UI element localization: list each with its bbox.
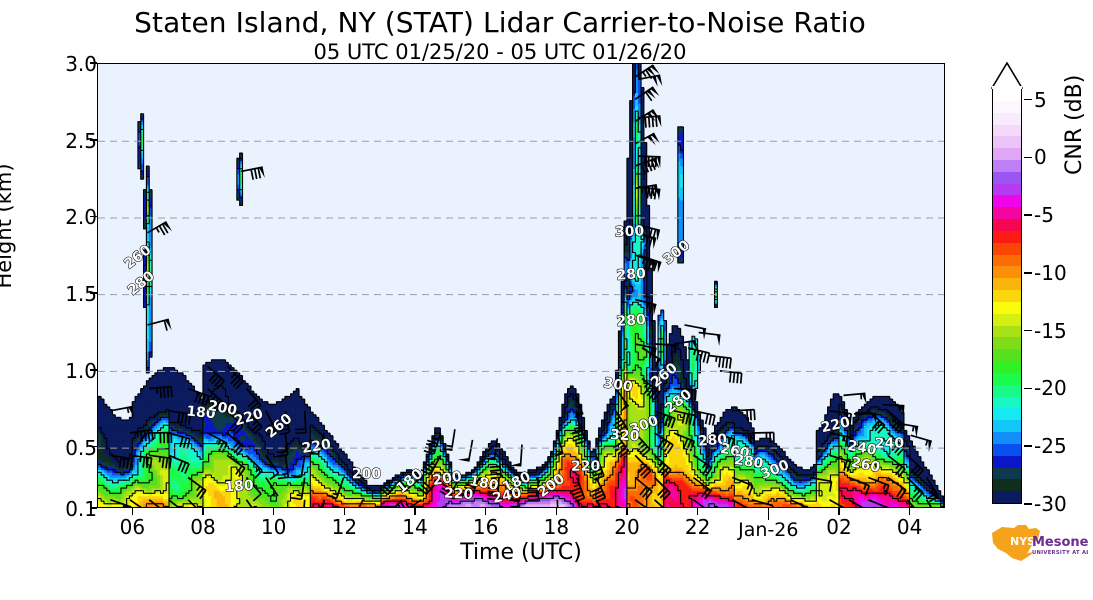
colorbar-band	[993, 443, 1021, 455]
colorbar-band	[993, 136, 1021, 148]
colorbar-band	[993, 337, 1021, 349]
y-tick-label: 1.0	[49, 359, 97, 383]
logo-graphic: NYS Mesonet UNIVERSITY AT ALBANY	[988, 519, 1088, 567]
x-tick-label: 16	[446, 515, 526, 539]
y-tick-label: 1.5	[49, 282, 97, 306]
colorbar-tick-label: -5	[1034, 203, 1054, 227]
colorbar-band	[993, 219, 1021, 231]
colorbar-tick-mark	[1024, 214, 1032, 216]
colorbar-band	[993, 325, 1021, 337]
x-tick-mark	[556, 508, 558, 515]
colorbar-band	[993, 112, 1021, 124]
y-tick-mark	[90, 446, 97, 448]
y-tick-label: 2.0	[49, 205, 97, 229]
colorbar-band	[993, 396, 1021, 408]
x-tick-mark	[626, 508, 628, 515]
y-tick-label: 3.0	[49, 52, 97, 76]
colorbar-tick-mark	[1024, 445, 1032, 447]
chart-plot-area[interactable]: 1802002202601802001802001801802002202402…	[97, 63, 945, 508]
colorbar-band	[993, 455, 1021, 467]
colorbar-band	[993, 171, 1021, 183]
colorbar-band	[993, 100, 1021, 112]
x-tick-mark	[414, 508, 416, 515]
colorbar-band	[993, 159, 1021, 171]
colorbar-tick-label: 5	[1034, 88, 1047, 112]
colorbar-tick-mark	[1024, 503, 1032, 505]
y-tick-mark	[90, 292, 97, 294]
chart-gridlines	[98, 64, 944, 507]
colorbar-tick-mark	[1024, 99, 1032, 101]
colorbar-tick-mark	[1024, 157, 1032, 159]
x-axis-label: Time (UTC)	[97, 540, 945, 565]
x-tick-label: Jan-26	[728, 519, 808, 541]
colorbar-band	[993, 408, 1021, 420]
x-tick-mark	[344, 508, 346, 515]
colorbar-band	[993, 207, 1021, 219]
page-title: Staten Island, NY (STAT) Lidar Carrier-t…	[0, 6, 1000, 39]
x-tick-mark	[202, 508, 204, 515]
colorbar-band	[993, 313, 1021, 325]
y-tick-mark	[90, 369, 97, 371]
colorbar-band	[993, 195, 1021, 207]
colorbar-tick-label: -15	[1034, 319, 1067, 343]
colorbar-band	[993, 242, 1021, 254]
colorbar-band	[993, 230, 1021, 242]
colorbar-band	[993, 88, 1021, 100]
colorbar-tick-label: 0	[1034, 145, 1047, 169]
colorbar-over-arrow	[991, 62, 1023, 89]
x-axis-tickmarks	[97, 508, 945, 516]
y-tick-mark	[90, 507, 97, 509]
colorbar-band	[993, 384, 1021, 396]
colorbar-tick-label: -25	[1034, 434, 1067, 458]
nys-mesonet-logo[interactable]: NYS Mesonet UNIVERSITY AT ALBANY	[988, 519, 1088, 567]
colorbar-title: CNR (dB)	[1062, 75, 1087, 175]
colorbar-band	[993, 491, 1021, 503]
colorbar-band	[993, 349, 1021, 361]
colorbar-tick-label: -20	[1034, 376, 1067, 400]
x-tick-mark	[909, 508, 911, 515]
x-tick-mark	[485, 508, 487, 515]
colorbar-band	[993, 431, 1021, 443]
x-tick-label: 10	[234, 515, 314, 539]
y-axis-label: Height (km)	[0, 163, 16, 288]
y-tick-label: 2.5	[49, 129, 97, 153]
colorbar-band	[993, 254, 1021, 266]
colorbar-band	[993, 372, 1021, 384]
x-tick-mark	[132, 508, 134, 515]
x-tick-mark	[273, 508, 275, 515]
colorbar-band	[993, 479, 1021, 491]
colorbar-band	[993, 301, 1021, 313]
colorbar-tick-label: -30	[1034, 492, 1067, 516]
x-tick-label: 02	[799, 515, 879, 539]
y-tick-mark	[90, 216, 97, 218]
colorbar-band	[993, 148, 1021, 160]
y-tick-mark	[90, 62, 97, 64]
page-subtitle: 05 UTC 01/25/20 - 05 UTC 01/26/20	[0, 40, 1000, 64]
colorbar-gradient	[992, 88, 1022, 504]
x-tick-label: 06	[92, 515, 172, 539]
colorbar-band	[993, 266, 1021, 278]
y-axis-ticks: 0.10.51.01.52.02.53.0	[49, 63, 97, 508]
x-tick-label: 22	[658, 515, 738, 539]
colorbar-tick-mark	[1024, 272, 1032, 274]
x-tick-mark	[697, 508, 699, 515]
x-tick-label: 04	[870, 515, 950, 539]
x-tick-mark	[768, 508, 770, 520]
x-tick-label: 08	[163, 515, 243, 539]
colorbar-tick-mark	[1024, 330, 1032, 332]
colorbar-band	[993, 420, 1021, 432]
y-axis-tickmarks	[97, 63, 98, 508]
colorbar-band	[993, 467, 1021, 479]
colorbar[interactable]: 50-5-10-15-20-25-30	[992, 63, 1022, 504]
colorbar-band	[993, 278, 1021, 290]
x-tick-mark	[838, 508, 840, 515]
colorbar-band	[993, 124, 1021, 136]
colorbar-band	[993, 360, 1021, 372]
x-tick-label: 20	[587, 515, 667, 539]
x-tick-label: 12	[304, 515, 384, 539]
y-tick-mark	[90, 139, 97, 141]
colorbar-band	[993, 183, 1021, 195]
colorbar-band	[993, 289, 1021, 301]
x-tick-label: 14	[375, 515, 455, 539]
chart-canvas: 1802002202601802001802001801802002202402…	[98, 64, 944, 507]
y-tick-label: 0.1	[49, 497, 97, 521]
colorbar-tick-mark	[1024, 388, 1032, 390]
y-tick-label: 0.5	[49, 436, 97, 460]
colorbar-tick-label: -10	[1034, 261, 1067, 285]
x-tick-label: 18	[516, 515, 596, 539]
